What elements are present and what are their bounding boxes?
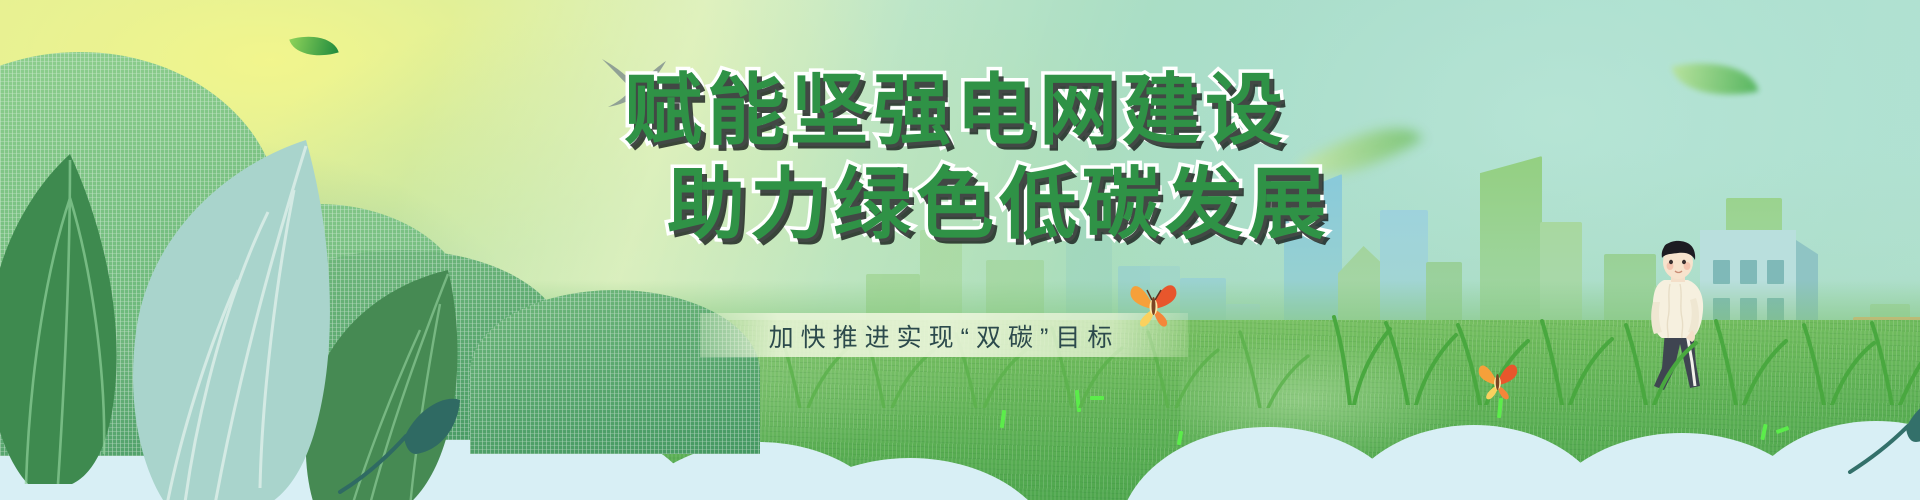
leaf-stem-icon-right: [1846, 384, 1920, 474]
butterfly-icon-upper: [1128, 280, 1180, 328]
title-line-2: 助力绿色低碳发展: [78, 164, 1920, 244]
leaf-stem-icon: [332, 384, 462, 494]
grass-blades-right: [1330, 295, 1920, 405]
title-block: 赋能坚强电网建设 助力绿色低碳发展: [0, 70, 1920, 245]
eco-power-grid-banner: 赋能坚强电网建设 助力绿色低碳发展 加快推进实现“双碳”目标: [0, 0, 1920, 500]
butterfly-icon-lawn: [1476, 360, 1520, 400]
subtitle-text: 加快推进实现“双碳”目标: [700, 318, 1188, 354]
title-line-1: 赋能坚强电网建设: [0, 70, 1920, 150]
